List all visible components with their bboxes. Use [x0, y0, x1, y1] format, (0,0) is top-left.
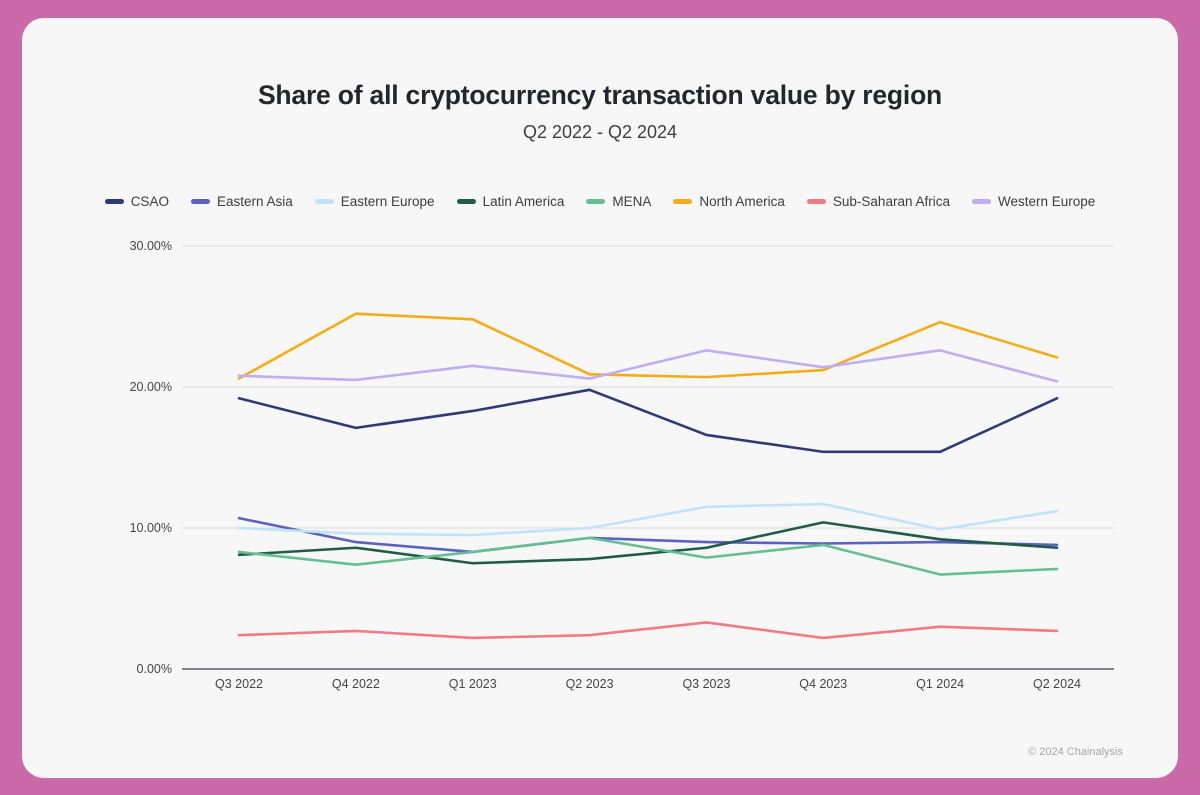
legend-item-label: CSAO	[131, 194, 169, 209]
copyright-credit: © 2024 Chainalysis	[1028, 746, 1123, 758]
legend-swatch-icon	[586, 199, 605, 204]
series-line[interactable]	[239, 314, 1057, 379]
legend-item-label: MENA	[612, 194, 651, 209]
series-line[interactable]	[239, 350, 1057, 381]
legend-item-label: Eastern Asia	[217, 194, 293, 209]
series-line[interactable]	[239, 622, 1057, 638]
series-line[interactable]	[239, 538, 1057, 575]
legend-item-label: Western Europe	[998, 194, 1095, 209]
page-subtitle: Q2 2022 - Q2 2024	[22, 122, 1178, 143]
legend-item[interactable]: Latin America	[457, 194, 565, 209]
legend-item[interactable]: North America	[673, 194, 785, 209]
y-axis-tick-label: 30.00%	[67, 239, 172, 253]
legend-swatch-icon	[807, 199, 826, 204]
legend-item[interactable]: CSAO	[105, 194, 169, 209]
x-axis-tick-label: Q3 2023	[646, 677, 766, 691]
legend-item-label: North America	[699, 194, 785, 209]
x-axis-tick-label: Q2 2023	[530, 677, 650, 691]
x-axis-tick-label: Q1 2023	[413, 677, 533, 691]
y-axis-tick-label: 10.00%	[67, 521, 172, 535]
legend-swatch-icon	[972, 199, 991, 204]
legend-swatch-icon	[457, 199, 476, 204]
legend-swatch-icon	[105, 199, 124, 204]
legend-item[interactable]: MENA	[586, 194, 651, 209]
x-axis-tick-label: Q3 2022	[179, 677, 299, 691]
chart-legend: CSAOEastern AsiaEastern EuropeLatin Amer…	[22, 194, 1178, 209]
x-axis-tick-label: Q1 2024	[880, 677, 1000, 691]
series-line[interactable]	[239, 522, 1057, 563]
legend-item[interactable]: Sub-Saharan Africa	[807, 194, 950, 209]
x-axis-tick-label: Q2 2024	[997, 677, 1117, 691]
y-axis-tick-label: 20.00%	[67, 380, 172, 394]
x-axis-tick-label: Q4 2022	[296, 677, 416, 691]
series-line[interactable]	[239, 504, 1057, 535]
legend-item-label: Sub-Saharan Africa	[833, 194, 950, 209]
legend-swatch-icon	[673, 199, 692, 204]
legend-swatch-icon	[191, 199, 210, 204]
chart-card: Share of all cryptocurrency transaction …	[22, 18, 1178, 778]
series-line[interactable]	[239, 390, 1057, 452]
legend-item-label: Latin America	[483, 194, 565, 209]
page-root: Share of all cryptocurrency transaction …	[0, 0, 1200, 795]
series-line[interactable]	[239, 518, 1057, 552]
legend-swatch-icon	[315, 199, 334, 204]
y-axis-tick-label: 0.00%	[67, 662, 172, 676]
x-axis-tick-label: Q4 2023	[763, 677, 883, 691]
legend-item[interactable]: Eastern Asia	[191, 194, 293, 209]
legend-item[interactable]: Western Europe	[972, 194, 1095, 209]
page-title: Share of all cryptocurrency transaction …	[22, 80, 1178, 111]
legend-item-label: Eastern Europe	[341, 194, 435, 209]
legend-item[interactable]: Eastern Europe	[315, 194, 435, 209]
